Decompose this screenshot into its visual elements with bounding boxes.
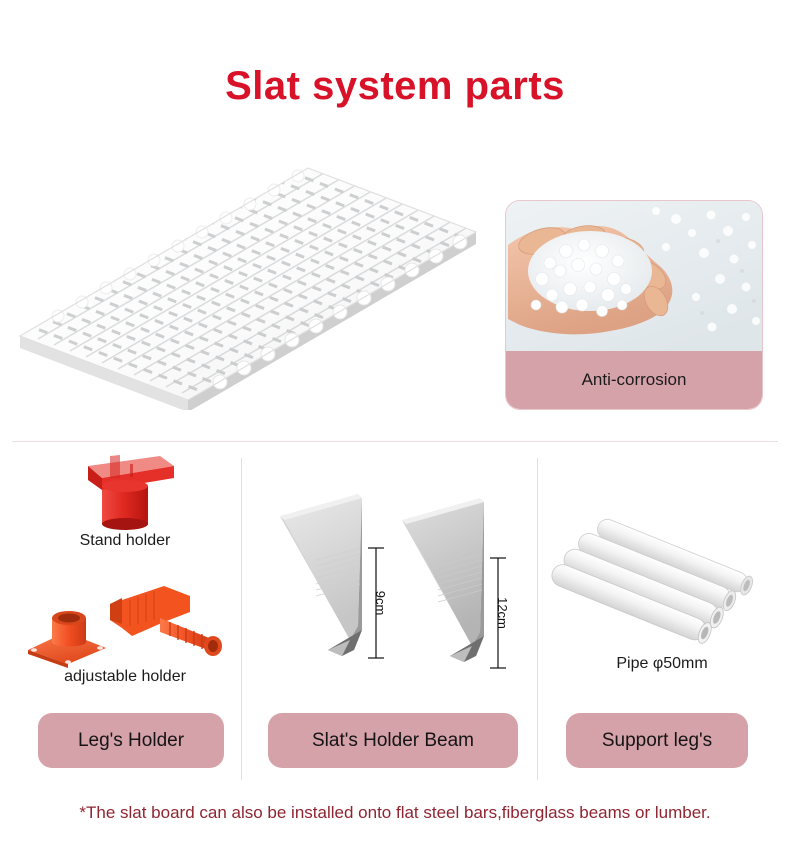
infographic-page: Slat system parts [0,0,790,863]
adjustable-holder-caption: adjustable holder [14,668,236,686]
column-divider-left [241,458,242,780]
footer-note: *The slat board can also be installed on… [0,803,790,823]
slat-board-image [8,160,488,410]
pipes-image [546,500,778,655]
beam-12cm [402,498,484,662]
beams-illustration: 9cm [250,490,532,690]
stand-holder-image [14,450,236,532]
badge-slats-holder-beam[interactable]: Slat's Holder Beam [268,713,518,768]
dimension-12cm-label: 12cm [495,597,510,629]
pipes-illustration [546,500,778,655]
section-divider [12,441,778,442]
pellets-illustration [506,201,762,353]
slat-board-illustration [8,160,488,410]
beam-9cm [280,494,362,656]
column-slats-holder-beam: 9cm [250,450,532,700]
stand-holder-illustration [14,450,236,532]
beams-image: 9cm [250,490,532,700]
page-title: Slat system parts [0,64,790,109]
pipe-caption: Pipe φ50mm [546,655,778,673]
column-support-legs: Pipe φ50mm [546,450,778,673]
stand-holder-caption: Stand holder [14,532,236,550]
badge-legs-holder[interactable]: Leg's Holder [38,713,224,768]
adjustable-holder-illustration [14,578,236,668]
adjustable-holder-image [14,578,236,668]
column-divider-right [537,458,538,780]
badge-support-legs[interactable]: Support leg's [566,713,748,768]
anti-corrosion-label: Anti-corrosion [506,351,762,409]
column-legs-holder: Stand holder [14,450,236,686]
dimension-9cm-label: 9cm [373,591,388,616]
pellets-photo [506,201,762,353]
anti-corrosion-card: Anti-corrosion [505,200,763,410]
